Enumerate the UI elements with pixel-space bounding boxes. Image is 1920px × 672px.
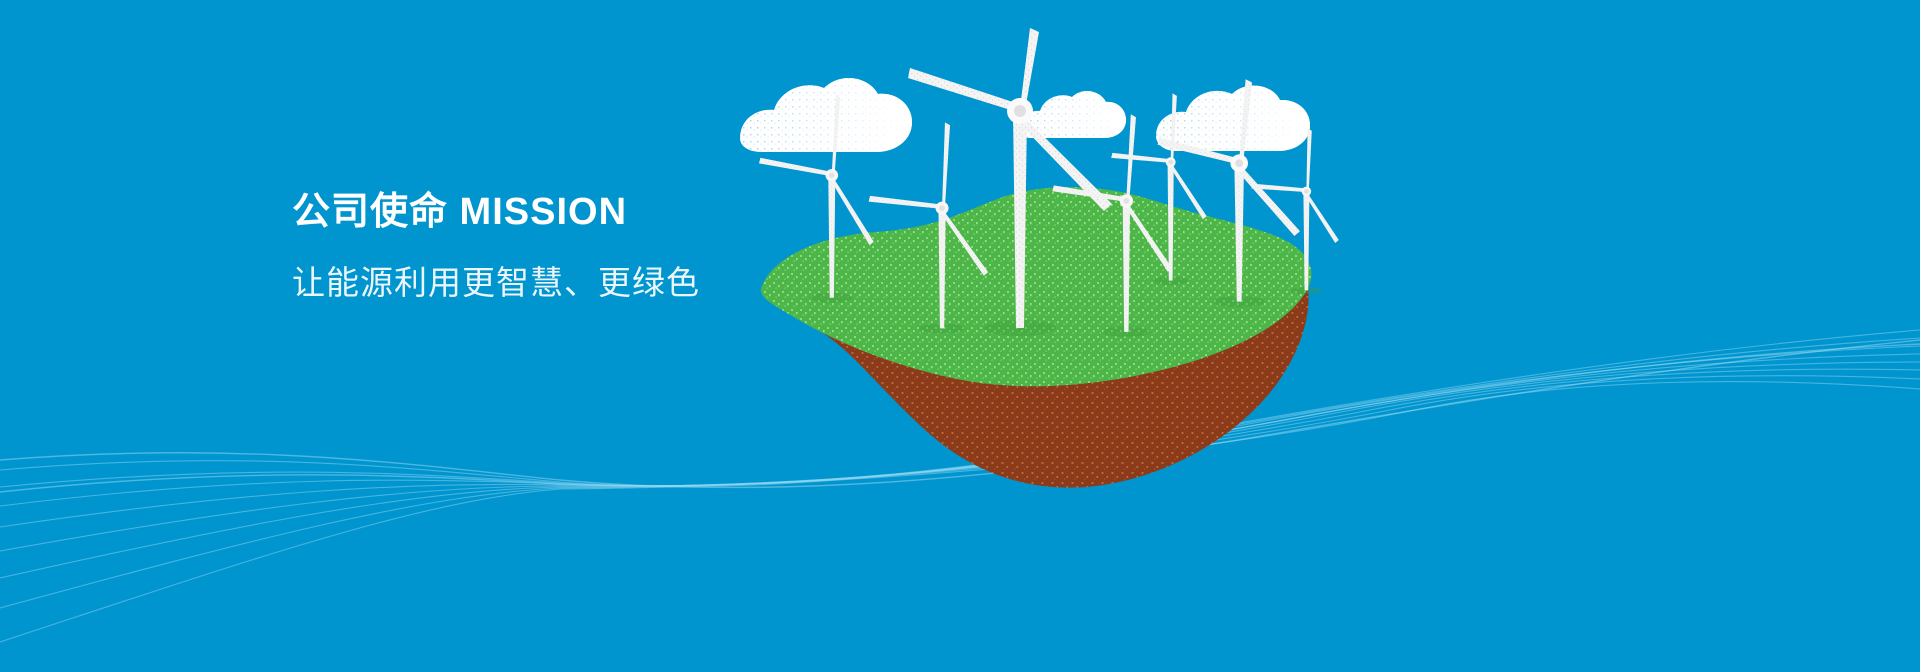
page-subtitle: 让能源利用更智慧、更绿色 xyxy=(292,262,912,305)
mission-text-block: 公司使命 MISSION 让能源利用更智慧、更绿色 xyxy=(292,190,912,304)
page-title: 公司使命 MISSION xyxy=(292,190,912,236)
cloud-icon-3 xyxy=(1156,85,1310,151)
mission-banner: 公司使命 MISSION 让能源利用更智慧、更绿色 xyxy=(0,0,1920,672)
cloud-icon-1 xyxy=(740,78,912,152)
